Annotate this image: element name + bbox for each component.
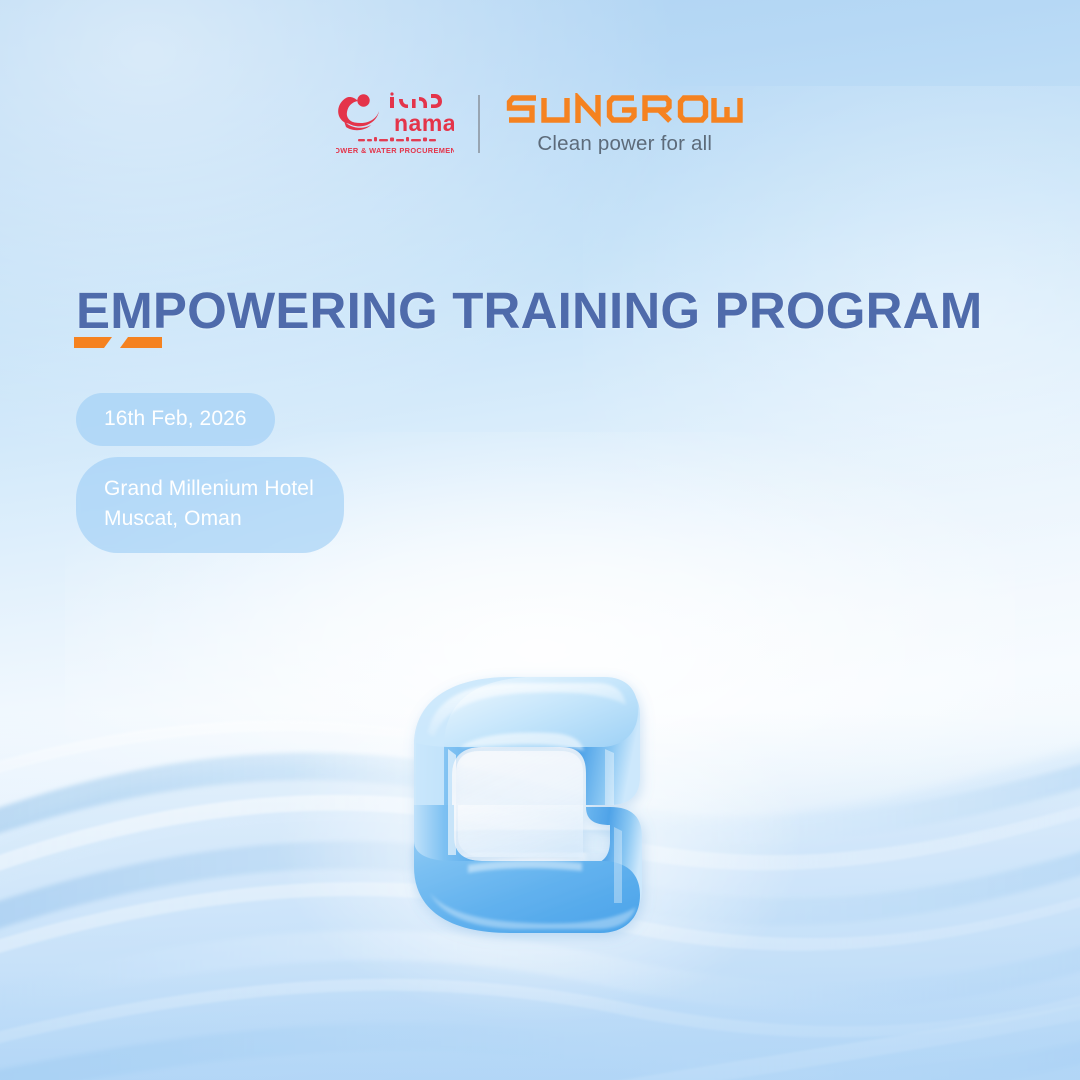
event-venue-line2: Muscat, Oman [104, 504, 314, 534]
event-date-pill: 16th Feb, 2026 [76, 393, 275, 446]
background-bottom-veil [0, 972, 1080, 1080]
accent-mark [74, 335, 162, 351]
background-glow-top-left [0, 0, 670, 454]
nama-arabic-subtitle [358, 137, 436, 141]
nama-arabic-wordmark [390, 92, 442, 108]
nama-logo: nama POWER & WATER PROCUREMENT [336, 91, 454, 157]
event-date-label: 16th Feb, 2026 [104, 407, 247, 430]
event-venue-pill: Grand Millenium Hotel Muscat, Oman [76, 457, 344, 553]
nama-figure-icon [338, 94, 379, 130]
sungrow-wordmark [506, 93, 744, 129]
page-title: EMPOWERING TRAINING PROGRAM [76, 283, 982, 338]
nama-subtitle-text: POWER & WATER PROCUREMENT [336, 146, 454, 155]
logo-divider [478, 95, 480, 153]
sungrow-glass-emblem [390, 655, 690, 955]
event-venue-line1: Grand Millenium Hotel [104, 477, 314, 500]
nama-wordmark-text: nama [394, 110, 454, 136]
nama-logo-artwork: nama POWER & WATER PROCUREMENT [336, 91, 454, 157]
poster-canvas: nama POWER & WATER PROCUREMENT [0, 0, 1080, 1080]
sungrow-logo: Clean power for all [506, 93, 744, 155]
sungrow-tagline: Clean power for all [537, 134, 712, 155]
logo-lockup: nama POWER & WATER PROCUREMENT [0, 88, 1080, 160]
